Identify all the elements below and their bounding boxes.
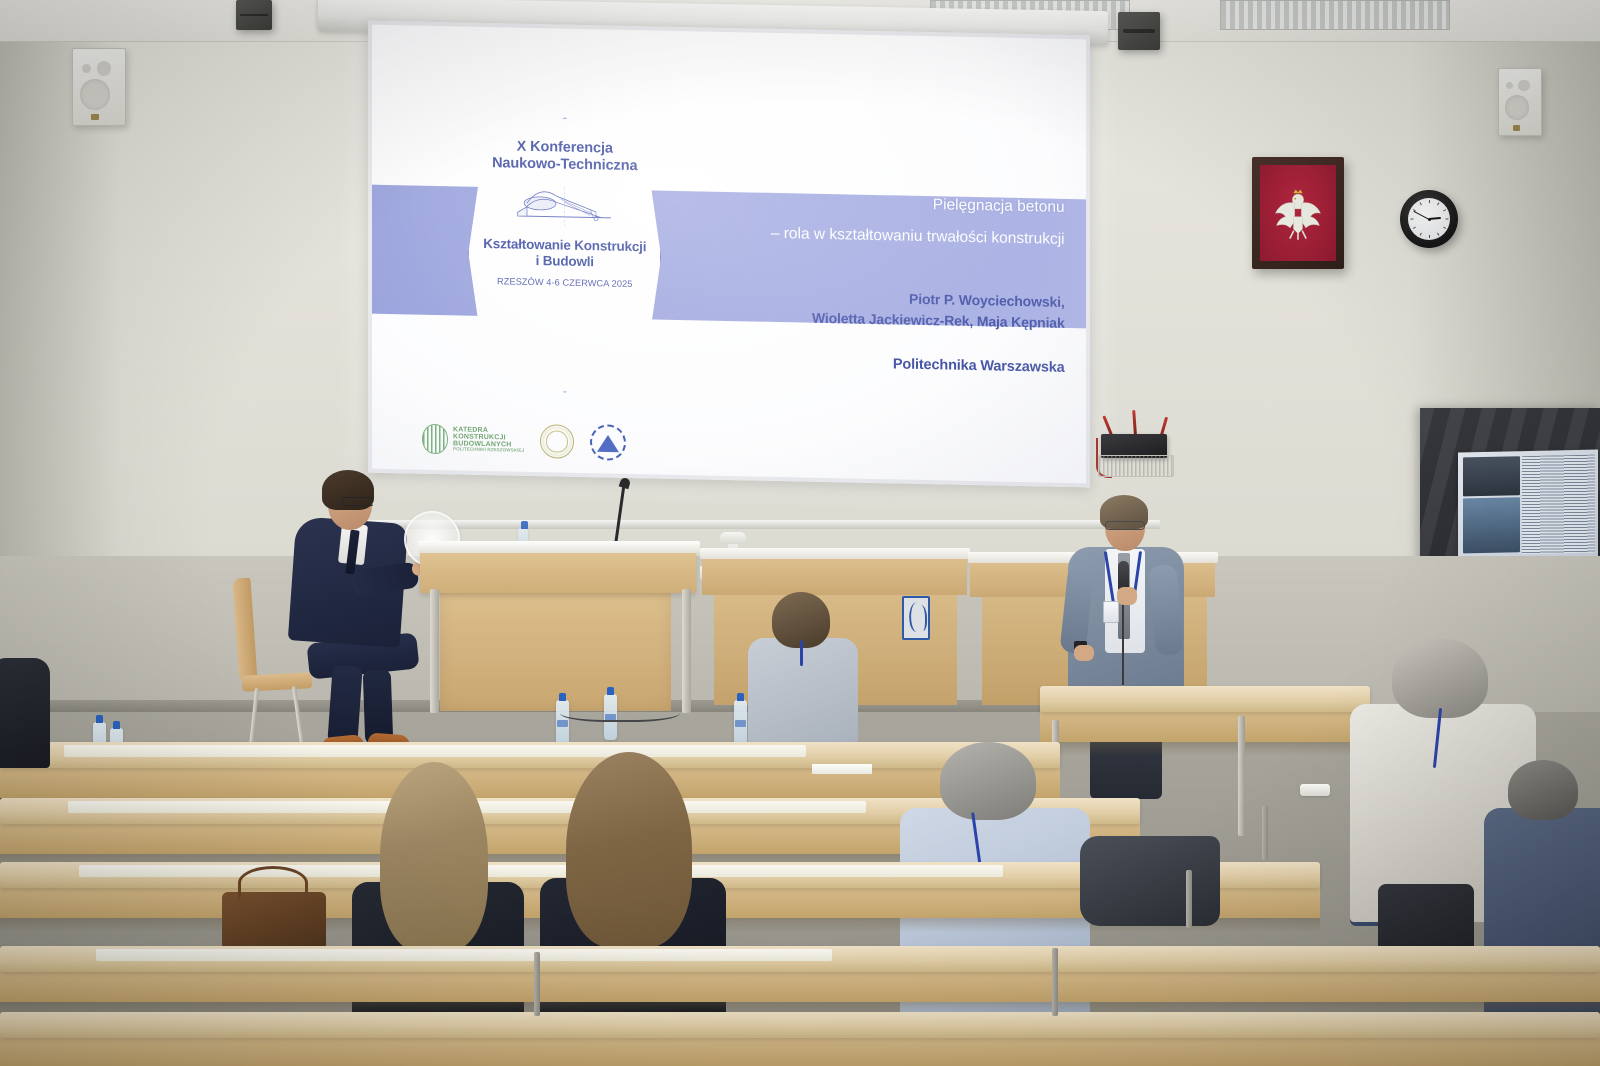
poster-photo-bottom	[1463, 497, 1520, 553]
bench-leg	[1238, 716, 1245, 836]
clock-hour-hand	[1429, 217, 1441, 220]
bench-divider	[1262, 806, 1268, 860]
conference-title-line-2: Naukowo-Techniczna	[492, 156, 637, 177]
speaker-brand-badge	[1513, 125, 1520, 131]
poster-body-text	[1522, 455, 1595, 555]
attendee-head	[1392, 638, 1488, 718]
talk-title: Pielęgnacja betonu	[933, 193, 1065, 220]
handheld-device[interactable]	[1300, 784, 1330, 796]
slide-sponsor-logos: KATEDRA KONSTRUKCJI BUDOWLANYCH POLITECH…	[422, 420, 626, 460]
presenter-hand-right	[1117, 587, 1137, 605]
clock-center-pin	[1428, 218, 1431, 221]
conference-logo: X Konferencja Naukowo-Techniczna	[468, 115, 661, 394]
wall-speaker-left	[72, 48, 126, 126]
talk-affiliation: Politechnika Warszawska	[893, 356, 1065, 376]
speaker-midrange-icon	[1518, 80, 1530, 92]
lectern-front-panel	[440, 591, 671, 711]
folded-coat	[1080, 836, 1220, 926]
speaker-brand-badge	[91, 114, 99, 121]
emblem-red-field	[1260, 165, 1336, 261]
bench-row-5-face	[0, 1034, 1600, 1066]
rzeszow-university-logo-sticker	[902, 596, 930, 640]
presenter-name-badge	[1103, 601, 1119, 623]
lecture-hall-scene: X Konferencja Naukowo-Techniczna	[0, 0, 1600, 1066]
audience-far-left-edge	[0, 658, 50, 768]
presenter-glasses-icon	[1105, 521, 1145, 530]
polish-eagle-emblem	[1252, 157, 1344, 269]
microphone-cable	[1122, 603, 1124, 685]
lectern	[418, 541, 700, 713]
stage-desk-center-top	[700, 548, 970, 559]
bench-divider	[534, 952, 540, 1016]
conference-subtitle-line-2: i Budowli	[483, 252, 646, 272]
audience-center	[748, 592, 858, 762]
projection-screen: X Konferencja Naukowo-Techniczna	[368, 21, 1090, 488]
bench-row-face	[1040, 708, 1370, 742]
bench-row-worktop	[1040, 686, 1370, 712]
conference-logo-title: X Konferencja Naukowo-Techniczna	[492, 138, 637, 176]
paper-sheet	[812, 764, 872, 774]
bag-strap	[238, 866, 308, 900]
stage-desk-center-apron	[702, 557, 967, 595]
attendee-torso	[0, 658, 50, 768]
clock-face	[1408, 198, 1450, 240]
clock-minute-hand	[1414, 210, 1430, 219]
poster-photo-top	[1463, 456, 1520, 496]
lectern-apron	[420, 551, 696, 593]
presenter-hand-left	[1074, 645, 1094, 661]
building-columns-icon	[422, 423, 448, 454]
bench-row-4-face	[0, 968, 1600, 1002]
katedra-konstrukcji-logo: KATEDRA KONSTRUKCJI BUDOWLANYCH POLITECH…	[422, 423, 524, 455]
wall-speaker-right	[1498, 68, 1542, 136]
lectern-worktop	[418, 541, 700, 553]
talk-authors: Piotr P. Woyciechowski, Wioletta Jackiew…	[812, 286, 1065, 333]
bench-row-4-worktop	[0, 946, 1600, 972]
pzitb-circle-logo	[540, 424, 574, 459]
wall-rail	[360, 520, 1160, 529]
speaker-tweeter-icon	[1506, 82, 1513, 89]
speaker-woofer-icon	[80, 79, 110, 109]
lectern-leg-right	[682, 589, 691, 713]
water-bottle[interactable]	[734, 700, 747, 746]
presentation-slide: X Konferencja Naukowo-Techniczna	[372, 25, 1086, 484]
attendee-head	[1508, 760, 1578, 820]
katedra-logo-text: KATEDRA KONSTRUKCJI BUDOWLANYCH POLITECH…	[453, 426, 524, 454]
speaker-woofer-icon	[1505, 95, 1529, 119]
slide-text-block: Pielęgnacja betonu – rola w kształtowani…	[708, 103, 1065, 457]
panelist-glasses-icon	[342, 497, 374, 506]
document-camera-head	[720, 532, 746, 544]
router-wall-shelf	[1098, 455, 1174, 477]
attendee-head	[940, 742, 1036, 820]
chair-backrest	[232, 577, 257, 682]
katedra-line-4: POLITECHNIKI RZESZOWSKIEJ	[453, 447, 524, 453]
leather-bag	[222, 892, 326, 954]
conference-structure-illustration	[488, 178, 641, 237]
conference-logo-subtitle: Kształtowanie Konstrukcji i Budowli	[483, 236, 646, 272]
poster-left-column	[1463, 456, 1520, 555]
triangle-icon	[597, 435, 619, 452]
panelist-shin-left	[327, 665, 362, 745]
authors-line-2: Wioletta Jackiewicz-Rek, Maja Kępniak	[812, 307, 1065, 333]
white-eagle-icon	[1270, 177, 1326, 252]
bench-divider	[1052, 948, 1058, 1016]
bench-row-5-worktop	[0, 1012, 1600, 1038]
attendee-hair	[566, 752, 692, 948]
bench-divider	[1186, 870, 1192, 928]
bench-writing-surface	[96, 949, 832, 961]
speaker-midrange-icon	[97, 61, 112, 76]
attendee-hair	[380, 762, 488, 952]
ceiling-air-grille-right	[1220, 0, 1450, 30]
pzitb-gear-logo	[590, 424, 626, 461]
ceiling-speaker-left	[236, 0, 272, 30]
speaker-tweeter-icon	[82, 64, 91, 73]
research-poster	[1458, 450, 1598, 561]
ceiling-speaker-right	[1118, 12, 1160, 50]
lectern-leg-left	[430, 589, 439, 713]
conference-date-location: RZESZÓW 4-6 CZERWCA 2025	[497, 276, 632, 289]
floor-cable	[560, 700, 680, 722]
attendee-lanyard	[800, 640, 803, 666]
talk-subtitle: – rola w kształtowaniu trwałości konstru…	[771, 222, 1065, 252]
wall-clock	[1400, 190, 1458, 248]
